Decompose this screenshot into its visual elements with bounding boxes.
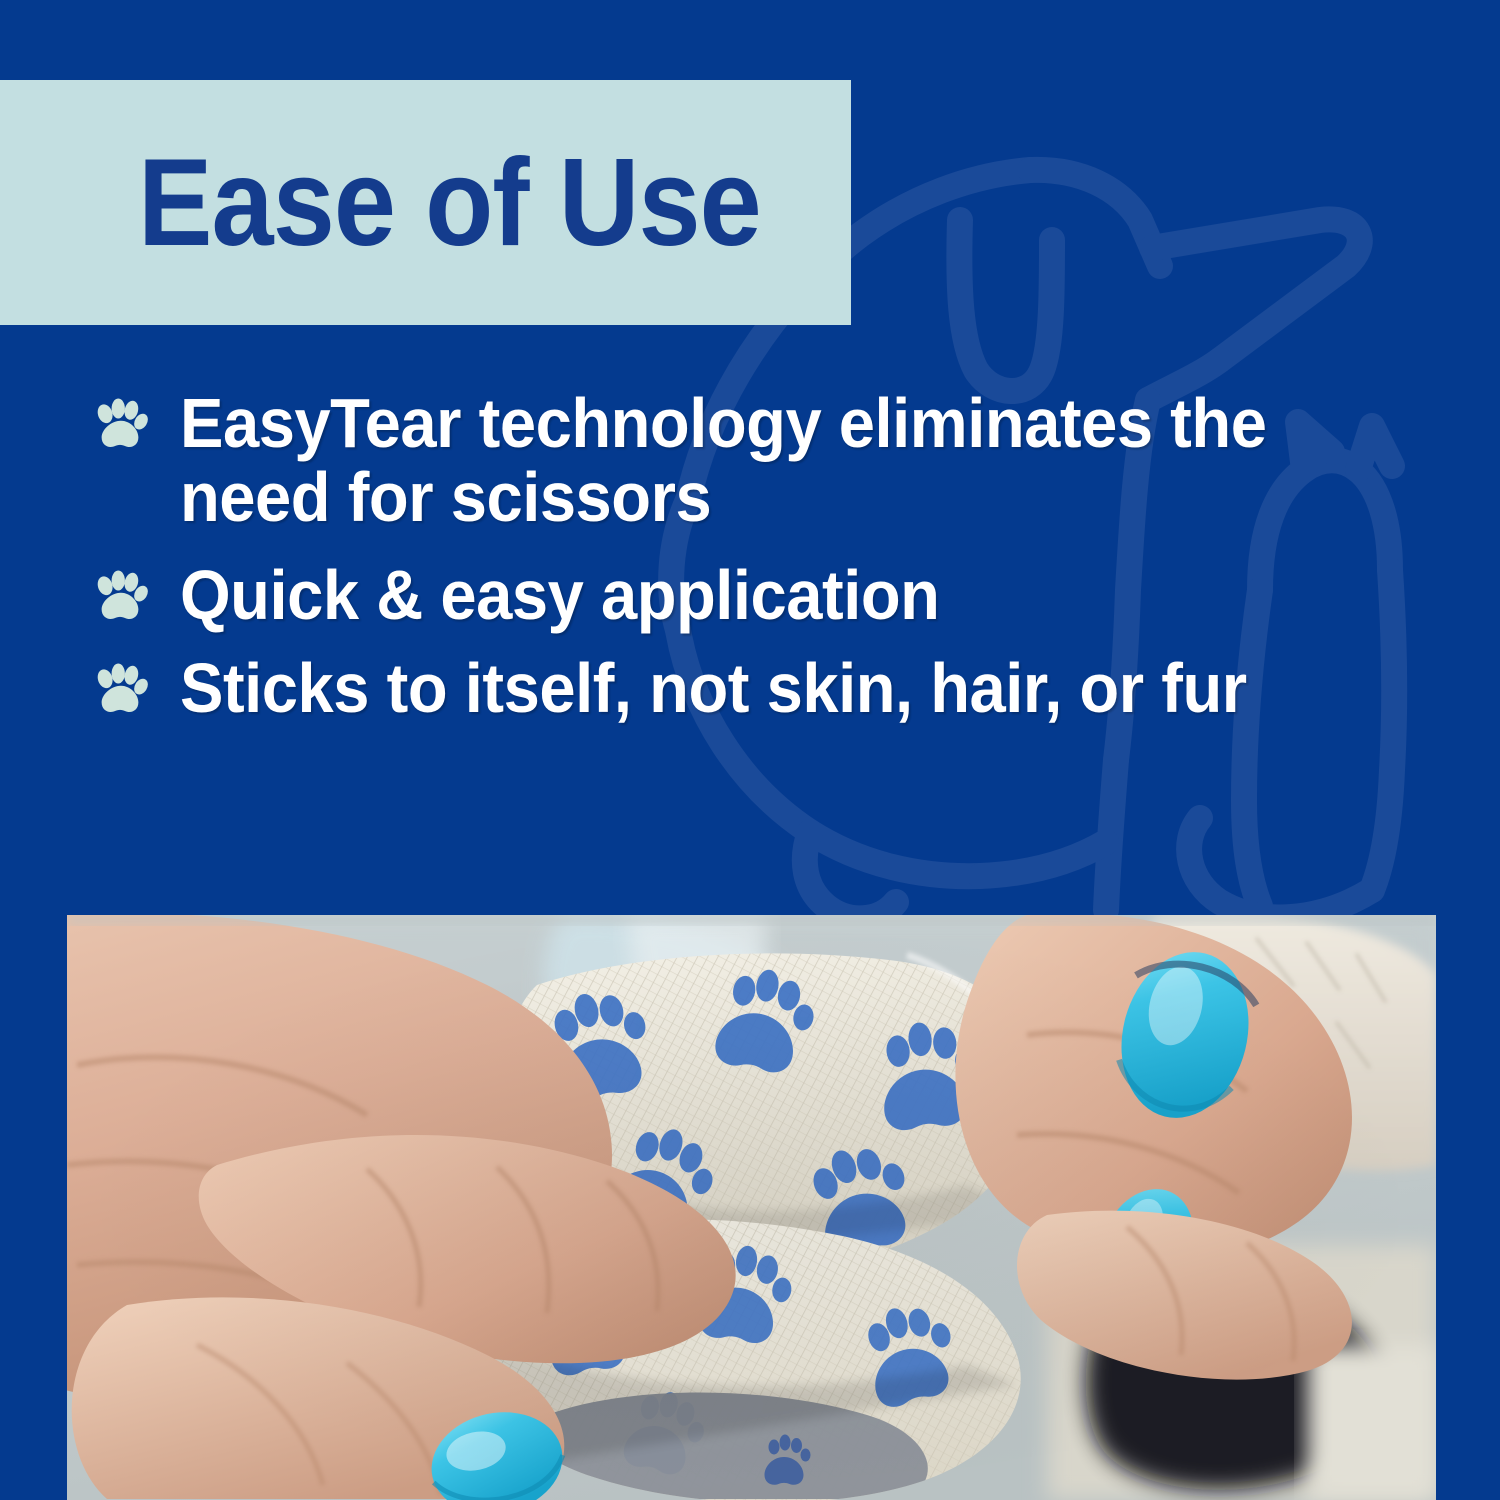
paw-print-icon [92, 398, 148, 454]
feature-bullet-list: EasyTear technology eliminates the need … [92, 386, 1452, 749]
list-item-label: Quick & easy application [180, 558, 939, 632]
product-photo [67, 915, 1436, 1500]
header-banner: Ease of Use [0, 80, 851, 325]
paw-print-icon [92, 570, 148, 626]
infographic-canvas: Ease of Use EasyTear technology eliminat… [0, 0, 1500, 1500]
paw-print-icon [92, 663, 148, 719]
list-item-label: Sticks to itself, not skin, hair, or fur [180, 651, 1247, 725]
list-item-label: EasyTear technology eliminates the need … [180, 386, 1363, 534]
list-item: Quick & easy application [92, 558, 1452, 632]
list-item: EasyTear technology eliminates the need … [92, 386, 1452, 534]
list-item: Sticks to itself, not skin, hair, or fur [92, 651, 1452, 725]
page-title: Ease of Use [138, 141, 761, 265]
